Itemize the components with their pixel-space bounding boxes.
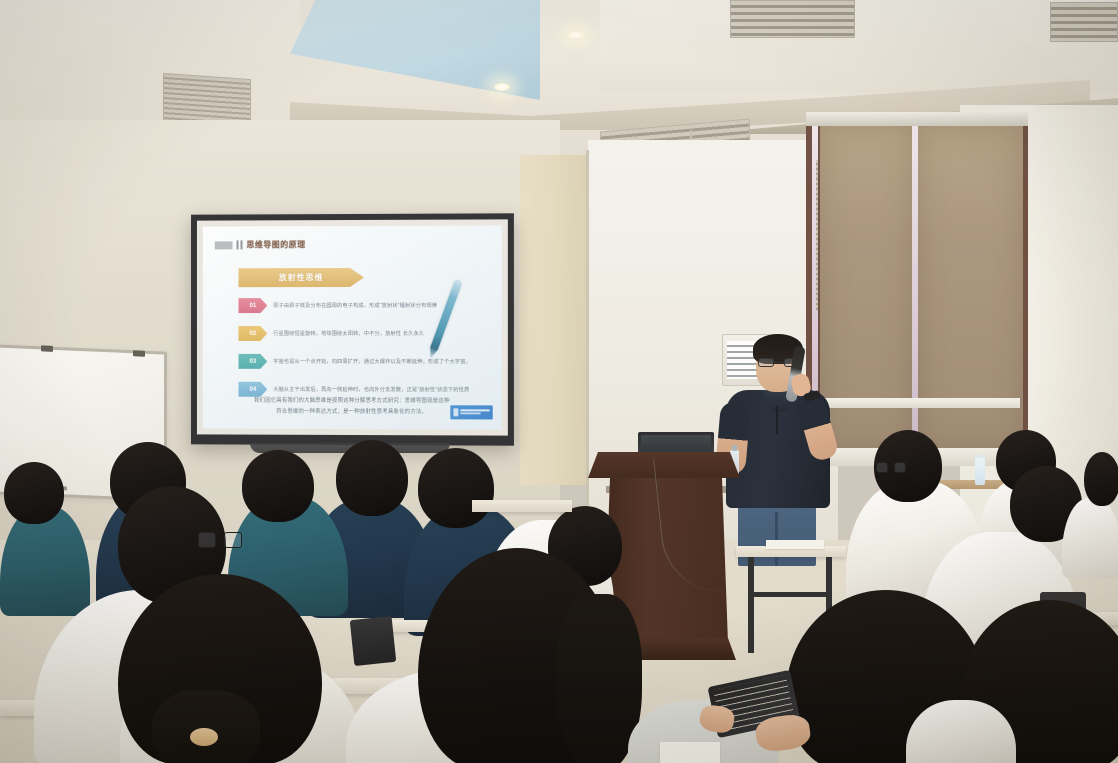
student-head bbox=[336, 440, 408, 516]
slide-row-text: 宇宙也是从一个点开始，向四周扩开，通过大爆炸以及不断延伸，形成了个大宇宙。 bbox=[273, 358, 471, 365]
slide-row: 02 行星围绕恒星旋转，地球围绕太阳转，中不分，放射性 长久永久 bbox=[239, 326, 425, 341]
papers bbox=[660, 742, 720, 763]
slide-banner-label: 放射性思维 bbox=[279, 272, 324, 283]
ac-vent-icon bbox=[163, 73, 251, 127]
slide-title-marker bbox=[215, 241, 233, 249]
pen-illustration-icon bbox=[430, 279, 463, 352]
slide-row: 03 宇宙也是从一个点开始，向四周扩开，通过大爆炸以及不断延伸，形成了个大宇宙。 bbox=[239, 354, 471, 369]
wall-divider bbox=[586, 150, 589, 540]
slide-row-number: 01 bbox=[239, 298, 268, 313]
slide-title-bars-icon bbox=[237, 240, 243, 249]
glasses-icon bbox=[876, 462, 906, 473]
ponytail bbox=[152, 690, 260, 763]
chair-back bbox=[350, 616, 397, 666]
slide-footer-line-2: 符合思维的一种表达方式，是一种放射性思考具象化的方法。 bbox=[225, 407, 480, 419]
slide-row: 01 原子由原子核及分布在圆周的电子构成，形成“放射状”辐射状分布规律 bbox=[239, 298, 438, 313]
window-ledge-upper bbox=[820, 398, 1020, 408]
slide-logo-badge bbox=[450, 405, 492, 419]
glasses-icon bbox=[198, 532, 242, 548]
projection-screen[interactable]: 思维导图的原理 放射性思维 01 原子由原子核及分布在圆周的电子构成，形成“放射… bbox=[191, 213, 514, 445]
ac-vent-icon bbox=[1050, 2, 1118, 42]
presenter-placket bbox=[776, 406, 778, 434]
slide-row-text: 原子由原子核及分布在圆周的电子构成，形成“放射状”辐射状分布规律 bbox=[273, 302, 437, 309]
student-head bbox=[418, 448, 494, 528]
downlight-icon bbox=[492, 82, 512, 92]
desk-leg bbox=[748, 557, 754, 653]
whiteboard-clip bbox=[133, 350, 145, 357]
downlight-icon bbox=[566, 30, 586, 40]
blind-headrail bbox=[806, 112, 1028, 126]
blind-pull-chain[interactable] bbox=[816, 160, 818, 310]
screen-bezel: 思维导图的原理 放射性思维 01 原子由原子核及分布在圆周的电子构成，形成“放射… bbox=[197, 219, 508, 435]
desk-crossbar bbox=[752, 592, 830, 597]
desk bbox=[472, 500, 572, 512]
slide-footer-line-1: 我们因它具有我们的大脑思维是按照这种分解思考方式研究：思维导图就是这种 bbox=[225, 396, 480, 408]
student-head bbox=[4, 462, 64, 524]
slide-header: 思维导图的原理 bbox=[215, 239, 306, 250]
slide-footer: 我们因它具有我们的大脑思维是按照这种分解思考方式研究：思维导图就是这种 符合思维… bbox=[225, 396, 480, 419]
laptop-screen bbox=[641, 435, 711, 453]
slide-row-number: 02 bbox=[239, 326, 268, 341]
slide-title: 思维导图的原理 bbox=[246, 239, 305, 250]
papers bbox=[766, 540, 824, 549]
slide-row-number: 04 bbox=[239, 382, 268, 397]
ac-vent-icon bbox=[730, 0, 855, 38]
water-bottle bbox=[975, 455, 985, 485]
student-head bbox=[1084, 452, 1118, 506]
presentation-slide: 思维导图的原理 放射性思维 01 原子由原子核及分布在圆周的电子构成，形成“放射… bbox=[203, 225, 502, 429]
slide-row-text: 行星围绕恒星旋转，地球围绕太阳转，中不分，放射性 长久永久 bbox=[273, 330, 424, 337]
hair-scrunchie bbox=[190, 728, 218, 746]
classroom-scene: 思维导图的原理 放射性思维 01 原子由原子核及分布在圆周的电子构成，形成“放射… bbox=[0, 0, 1118, 763]
wall-accent-column bbox=[520, 155, 590, 485]
badge-mark-icon bbox=[453, 408, 458, 416]
slide-row-number: 03 bbox=[239, 354, 268, 369]
badge-lines bbox=[460, 409, 489, 416]
slide-row-text: 大脑从主干出发后，再向一侧延伸时，也向外分支发散，正是“放射性”状态下的性质 bbox=[273, 386, 469, 393]
student-head bbox=[242, 450, 314, 522]
whiteboard-clip bbox=[41, 345, 53, 352]
ceiling-panel-right bbox=[600, 0, 1118, 92]
slide-banner: 放射性思维 bbox=[239, 268, 364, 287]
